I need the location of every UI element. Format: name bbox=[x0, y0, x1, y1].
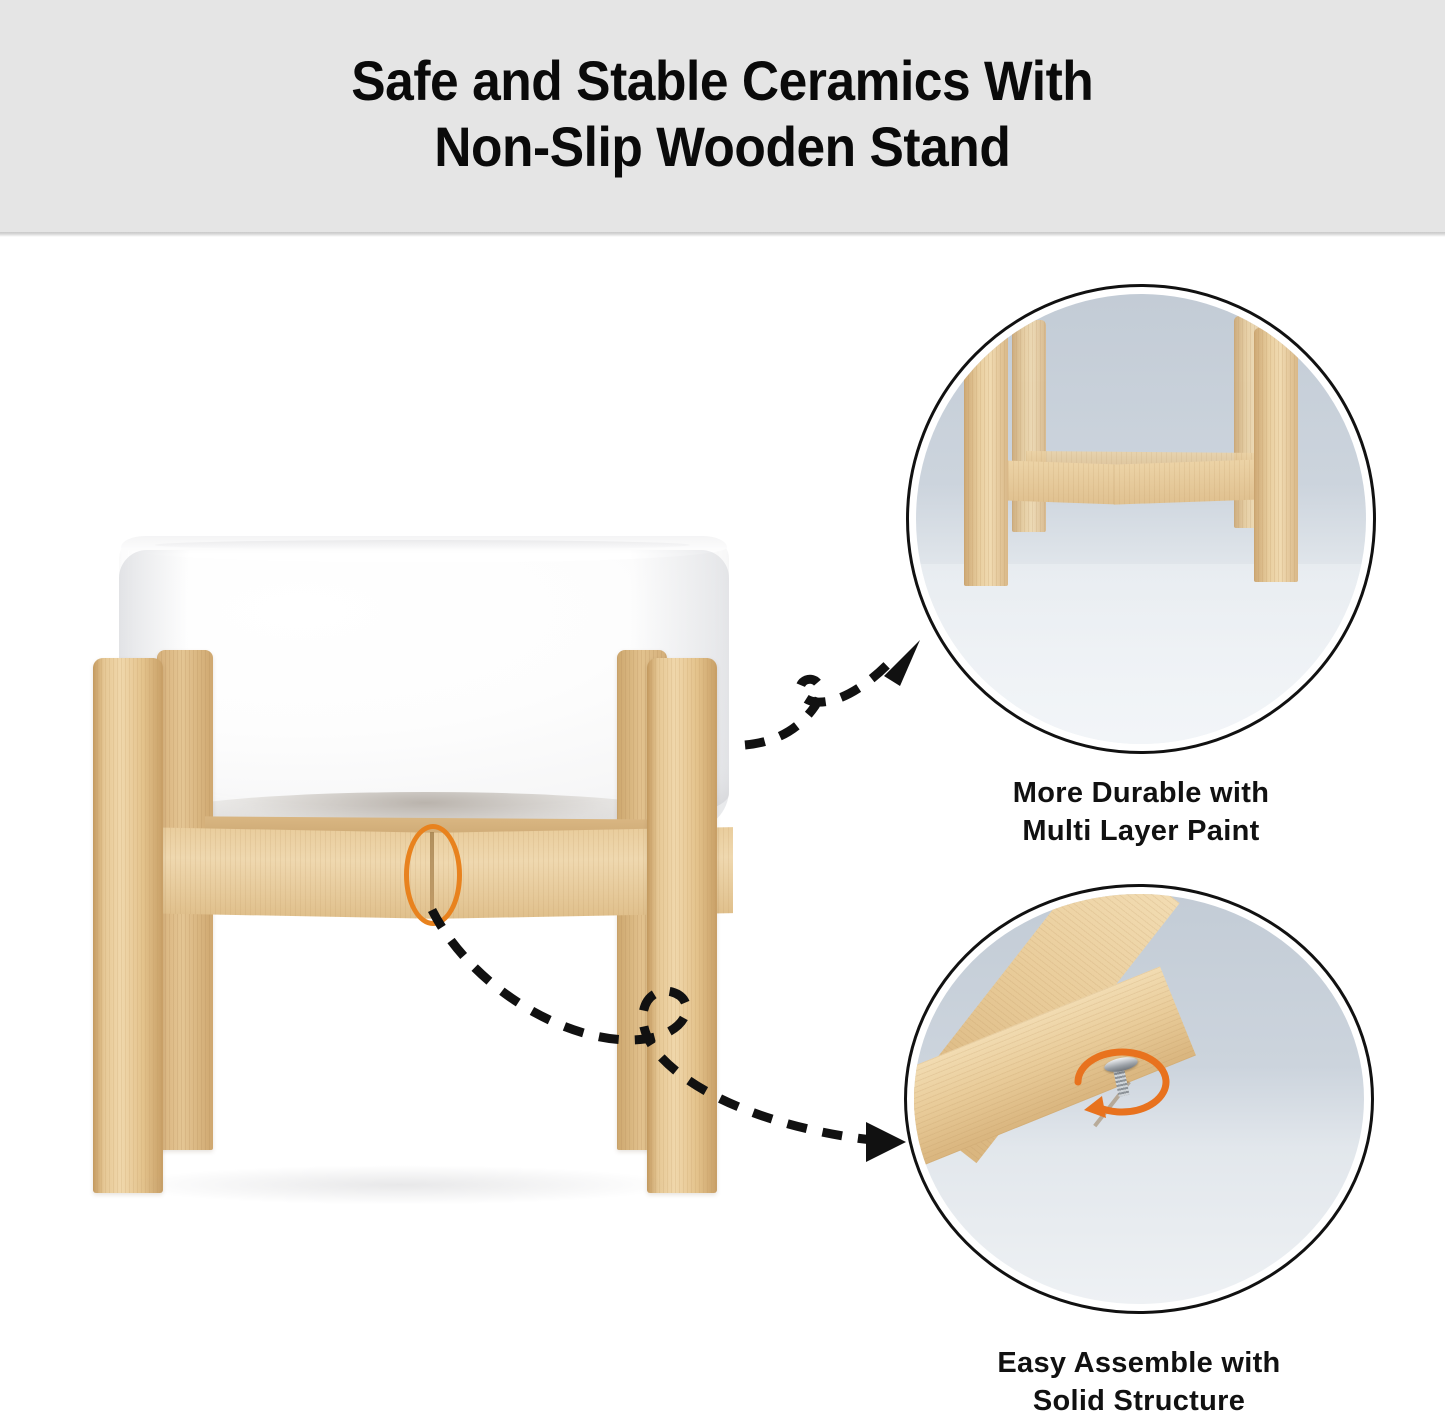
callout-circle-more-durable bbox=[906, 284, 1376, 754]
header-divider bbox=[0, 232, 1445, 237]
callout-photo-screw-joint bbox=[914, 894, 1364, 1304]
mini-leg-front-right bbox=[1254, 328, 1298, 582]
stand-leg-front-left bbox=[93, 658, 163, 1193]
callout-photo-stand-only bbox=[916, 294, 1366, 744]
stand-leg-front-right bbox=[647, 658, 717, 1193]
callout-caption-more-durable: More Durable with Multi Layer Paint bbox=[906, 775, 1376, 850]
callout-floor bbox=[916, 564, 1366, 744]
joint-highlight-ellipse bbox=[404, 824, 462, 926]
stand-rail-left bbox=[140, 827, 440, 919]
callout-circle-easy-assemble bbox=[904, 884, 1374, 1314]
header-banner: Safe and Stable Ceramics With Non-Slip W… bbox=[0, 0, 1445, 232]
bowl-rim-inner-edge bbox=[155, 540, 690, 550]
page-title: Safe and Stable Ceramics With Non-Slip W… bbox=[351, 48, 1093, 180]
product-floor-shadow bbox=[120, 1165, 680, 1205]
rotation-arrow-icon bbox=[1054, 1024, 1194, 1134]
mini-rail-right bbox=[1114, 459, 1262, 504]
mini-leg-front-left bbox=[964, 332, 1008, 586]
callout-caption-easy-assemble: Easy Assemble with Solid Structure bbox=[904, 1345, 1374, 1420]
